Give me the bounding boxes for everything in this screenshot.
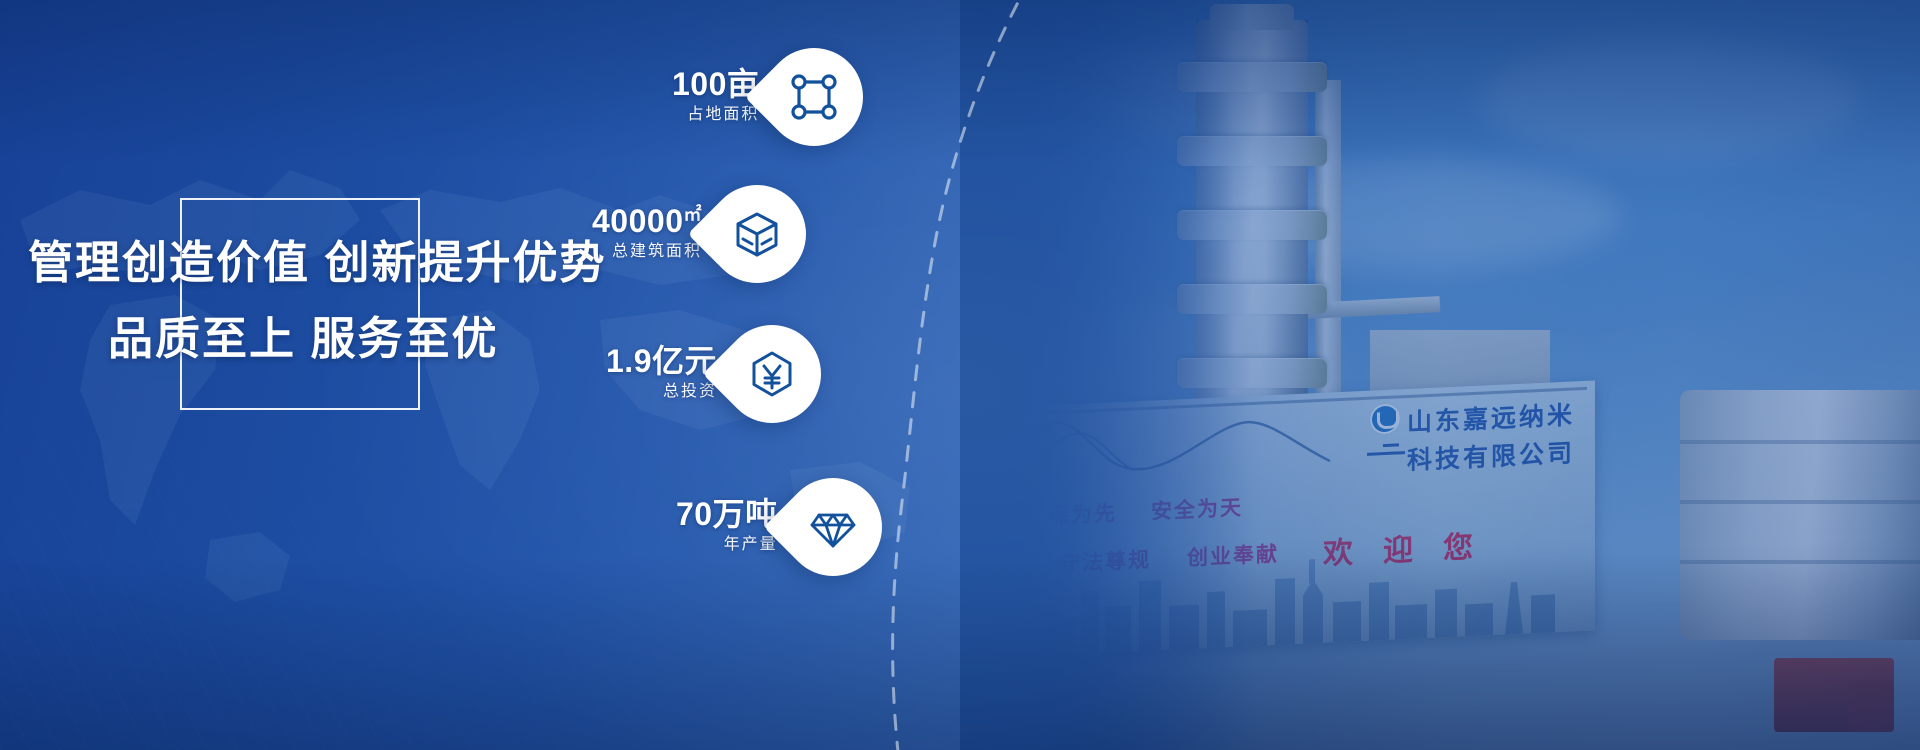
stat-marker-building-area: 40000㎡ 总建筑面积 <box>592 185 806 283</box>
headline-line-1: 管理创造价值 创新提升优势 <box>28 240 607 285</box>
stat-marker-land-area: 100亩 占地面积 <box>672 48 863 146</box>
stat-text: 1.9亿元 总投资 <box>606 344 717 403</box>
stat-value: 40000㎡ <box>592 204 702 239</box>
stat-value: 70万吨 <box>676 497 778 532</box>
stat-pin <box>745 28 884 167</box>
stat-label: 总投资 <box>606 380 717 404</box>
headline-line-2: 品质至上 服务至优 <box>108 316 499 361</box>
stat-marker-total-investment: 1.9亿元 总投资 <box>606 325 821 423</box>
stat-pin <box>763 458 902 597</box>
stat-text: 40000㎡ 总建筑面积 <box>592 204 702 263</box>
stat-label: 占地面积 <box>672 103 759 127</box>
stat-value-number: 40000 <box>592 203 683 239</box>
stat-value: 1.9亿元 <box>606 344 717 379</box>
stat-pin <box>703 305 842 444</box>
stat-label: 年产量 <box>676 533 778 557</box>
stat-label: 总建筑面积 <box>592 240 702 264</box>
box-volume-icon <box>731 208 783 260</box>
plot-area-icon <box>788 71 840 123</box>
stat-marker-annual-output: 70万吨 年产量 <box>676 478 882 576</box>
bracket-outline <box>180 198 420 410</box>
stat-pin <box>688 165 827 304</box>
yen-hexagon-icon <box>746 348 798 400</box>
diamond-icon <box>807 501 859 553</box>
stat-text: 70万吨 年产量 <box>676 497 778 556</box>
headline-bracket-frame <box>180 198 420 410</box>
corporate-banner: 山东嘉远纳米 科技有限公司 环保为先 安全为天 守法尊规 创业奉献 欢迎您 <box>0 0 1920 750</box>
